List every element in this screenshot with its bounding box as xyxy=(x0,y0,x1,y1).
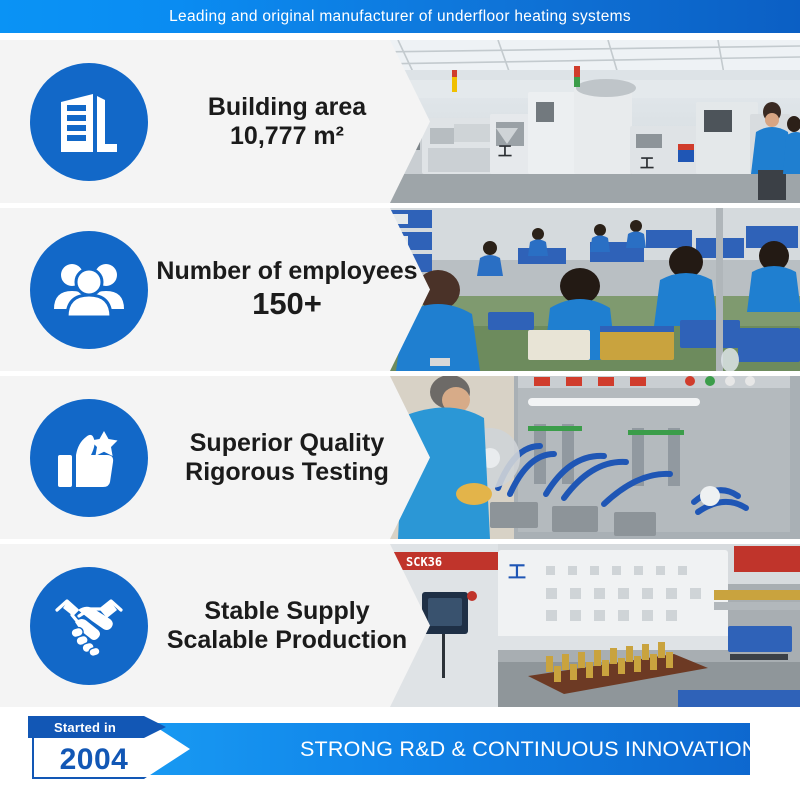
started-in-ribbon: Started in xyxy=(28,716,166,738)
row-line-1: Building area xyxy=(152,93,422,122)
row-photo-cnc-line: SCK36 xyxy=(378,544,800,707)
thumbs-up-star-icon xyxy=(30,399,148,517)
row-line-2: Scalable Production xyxy=(152,626,422,655)
handshake-icon xyxy=(30,567,148,685)
row-line-2: 10,777 m² xyxy=(152,122,422,151)
headline-text: STRONG R&D & CONTINUOUS INNOVATION xyxy=(300,723,758,775)
row-photo-factory-floor: 工 工 xyxy=(378,40,800,203)
year-value: 2004 xyxy=(32,741,156,779)
row-text: Number of employees 150+ xyxy=(148,257,430,322)
row-text: Stable Supply Scalable Production xyxy=(148,597,430,655)
row-line-1: Superior Quality xyxy=(152,429,422,458)
feature-rows: 工 工 xyxy=(0,40,800,712)
people-group-icon xyxy=(30,231,148,349)
bottom-bar: STRONG R&D & CONTINUOUS INNOVATION Start… xyxy=(0,718,800,788)
row-left-panel: Stable Supply Scalable Production xyxy=(0,544,430,707)
svg-text:工: 工 xyxy=(508,562,526,583)
building-icon xyxy=(30,63,148,181)
row-line-2: Rigorous Testing xyxy=(152,458,422,487)
row-photo-assembly-line xyxy=(378,208,800,371)
headline-bar: STRONG R&D & CONTINUOUS INNOVATION xyxy=(150,723,778,775)
feature-row: Superior Quality Rigorous Testing xyxy=(0,376,800,539)
row-photo-testing-rig xyxy=(378,376,800,539)
feature-row: Number of employees 150+ xyxy=(0,208,800,371)
row-line-2: 150+ xyxy=(152,286,422,322)
svg-text:工: 工 xyxy=(498,144,512,160)
svg-text:工: 工 xyxy=(640,156,654,172)
row-text: Building area 10,777 m² xyxy=(148,93,430,151)
started-in-label: Started in xyxy=(54,720,116,735)
row-left-panel: Building area 10,777 m² xyxy=(0,40,430,203)
testing-rig-illustration xyxy=(378,376,800,539)
row-text: Superior Quality Rigorous Testing xyxy=(148,429,430,487)
feature-row: SCK36 xyxy=(0,544,800,707)
row-left-panel: Superior Quality Rigorous Testing xyxy=(0,376,430,539)
row-left-panel: Number of employees 150+ xyxy=(0,208,430,371)
top-banner: Leading and original manufacturer of und… xyxy=(0,0,800,33)
svg-text:SCK36: SCK36 xyxy=(406,555,442,569)
banner-text: Leading and original manufacturer of und… xyxy=(169,8,631,26)
row-line-1: Stable Supply xyxy=(152,597,422,626)
feature-row: 工 工 xyxy=(0,40,800,203)
year-badge: Started in 2004 xyxy=(32,721,186,779)
row-line-1: Number of employees xyxy=(152,257,422,286)
cnc-line-illustration: SCK36 xyxy=(378,544,800,707)
assembly-line-illustration xyxy=(378,208,800,371)
factory-floor-illustration: 工 工 xyxy=(378,40,800,203)
